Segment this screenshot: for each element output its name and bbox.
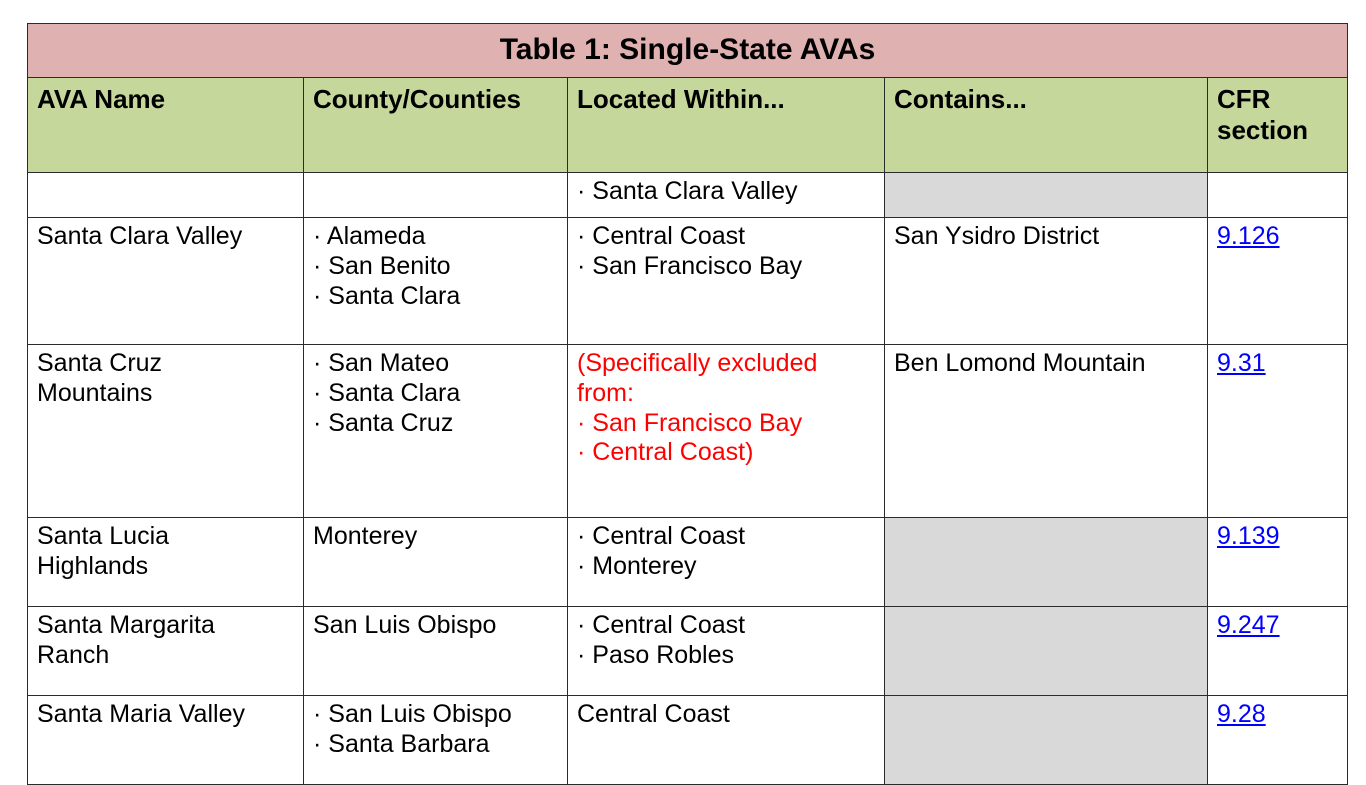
- cell-lines: Santa LuciaHighlands: [37, 522, 295, 582]
- cell-lines: San Ysidro District: [894, 222, 1199, 252]
- cell-lines: Ben Lomond Mountain: [894, 349, 1199, 379]
- cell-lines: Monterey: [313, 522, 559, 552]
- cell-located-within: (Specifically excludedfrom:· San Francis…: [568, 345, 885, 518]
- cell-located-within-line-1: (Specifically excluded: [577, 349, 876, 379]
- cell-contains-line-1: Ben Lomond Mountain: [894, 349, 1199, 379]
- cell-lines: · Central Coast· Paso Robles: [577, 611, 876, 671]
- cell-county-line-3: · Santa Cruz: [313, 409, 559, 439]
- cell-county: Monterey: [304, 518, 568, 607]
- cell-contains: Ben Lomond Mountain: [885, 345, 1208, 518]
- cell-located-within-line-2: · Paso Robles: [577, 641, 876, 671]
- table-title-row: Table 1: Single-State AVAs: [28, 24, 1348, 78]
- cell-located-within-line-1: Central Coast: [577, 700, 876, 730]
- cell-located-within: · Santa Clara Valley: [568, 173, 885, 218]
- table-title: Table 1: Single-State AVAs: [28, 24, 1348, 78]
- cell-contains: [885, 518, 1208, 607]
- cell-lines: · Santa Clara Valley: [577, 177, 876, 207]
- cell-located-within-line-1: · Central Coast: [577, 611, 876, 641]
- table-container: Table 1: Single-State AVAs AVA Name Coun…: [27, 23, 1347, 785]
- cell-county-line-2: · Santa Barbara: [313, 730, 559, 760]
- cfr-section-link[interactable]: 9.31: [1217, 349, 1266, 377]
- cell-ava-name-line-2: Mountains: [37, 379, 295, 409]
- cfr-section-link[interactable]: 9.126: [1217, 222, 1280, 250]
- cell-lines: Santa MargaritaRanch: [37, 611, 295, 671]
- cell-lines: San Luis Obispo: [313, 611, 559, 641]
- cell-cfr-section: 9.139: [1208, 518, 1348, 607]
- cell-cfr-section: 9.247: [1208, 607, 1348, 696]
- cell-contains: [885, 607, 1208, 696]
- cell-lines: · San Mateo· Santa Clara· Santa Cruz: [313, 349, 559, 438]
- cell-located-within-line-1: · Central Coast: [577, 522, 876, 552]
- cell-ava-name: Santa CruzMountains: [28, 345, 304, 518]
- table-row: Santa Clara Valley· Alameda· San Benito·…: [28, 218, 1348, 345]
- cell-located-within: · Central Coast· Paso Robles: [568, 607, 885, 696]
- cell-located-within-line-1: · Santa Clara Valley: [577, 177, 876, 207]
- cell-contains: [885, 173, 1208, 218]
- cell-lines: (Specifically excludedfrom:· San Francis…: [577, 349, 876, 468]
- cell-county-line-3: · Santa Clara: [313, 282, 559, 312]
- cell-county: · Alameda· San Benito· Santa Clara: [304, 218, 568, 345]
- cell-county-line-1: San Luis Obispo: [313, 611, 559, 641]
- cell-ava-name: Santa Maria Valley: [28, 696, 304, 785]
- cell-lines: Santa CruzMountains: [37, 349, 295, 409]
- column-header-located-within: Located Within...: [568, 78, 885, 173]
- cell-ava-name-line-2: Ranch: [37, 641, 295, 671]
- cell-located-within: · Central Coast· San Francisco Bay: [568, 218, 885, 345]
- column-header-contains: Contains...: [885, 78, 1208, 173]
- table-row: Santa LuciaHighlandsMonterey· Central Co…: [28, 518, 1348, 607]
- cell-located-within-line-1: · Central Coast: [577, 222, 876, 252]
- cfr-section-link[interactable]: 9.247: [1217, 611, 1280, 639]
- cell-cfr-section: 9.126: [1208, 218, 1348, 345]
- cell-ava-name: Santa LuciaHighlands: [28, 518, 304, 607]
- cell-lines: · Central Coast· San Francisco Bay: [577, 222, 876, 282]
- table-header-row: AVA Name County/Counties Located Within.…: [28, 78, 1348, 173]
- cell-ava-name: Santa Clara Valley: [28, 218, 304, 345]
- cell-county: San Luis Obispo: [304, 607, 568, 696]
- table-head: Table 1: Single-State AVAs AVA Name Coun…: [28, 24, 1348, 173]
- cell-lines: Central Coast: [577, 700, 876, 730]
- cell-cfr-section: [1208, 173, 1348, 218]
- cell-county-line-2: · Santa Clara: [313, 379, 559, 409]
- column-header-ava-name: AVA Name: [28, 78, 304, 173]
- cell-located-within-line-2: · San Francisco Bay: [577, 252, 876, 282]
- cell-located-within-line-4: · Central Coast): [577, 438, 876, 468]
- cell-lines: · Alameda· San Benito· Santa Clara: [313, 222, 559, 311]
- cell-ava-name-line-1: Santa Maria Valley: [37, 700, 295, 730]
- cell-ava-name-line-2: Highlands: [37, 552, 295, 582]
- cell-located-within: · Central Coast· Monterey: [568, 518, 885, 607]
- cell-county: · San Mateo· Santa Clara· Santa Cruz: [304, 345, 568, 518]
- cell-county-line-1: · San Mateo: [313, 349, 559, 379]
- cell-county: · San Luis Obispo· Santa Barbara: [304, 696, 568, 785]
- table-row: Santa MargaritaRanchSan Luis Obispo· Cen…: [28, 607, 1348, 696]
- cell-ava-name: [28, 173, 304, 218]
- cell-cfr-section: 9.28: [1208, 696, 1348, 785]
- cell-contains: [885, 696, 1208, 785]
- cell-county: [304, 173, 568, 218]
- cell-contains-line-1: San Ysidro District: [894, 222, 1199, 252]
- cell-lines: Santa Maria Valley: [37, 700, 295, 730]
- cell-located-within-line-2: · Monterey: [577, 552, 876, 582]
- cell-county-line-1: Monterey: [313, 522, 559, 552]
- cell-lines: · San Luis Obispo· Santa Barbara: [313, 700, 559, 760]
- table-row: Santa CruzMountains· San Mateo· Santa Cl…: [28, 345, 1348, 518]
- cfr-header-line-1: CFR: [1217, 84, 1339, 115]
- cfr-section-link[interactable]: 9.28: [1217, 700, 1266, 728]
- cell-ava-name-line-1: Santa Margarita: [37, 611, 295, 641]
- table-row: · Santa Clara Valley: [28, 173, 1348, 218]
- cell-county-line-1: · San Luis Obispo: [313, 700, 559, 730]
- cell-ava-name-line-1: Santa Cruz: [37, 349, 295, 379]
- cell-cfr-section: 9.31: [1208, 345, 1348, 518]
- cell-ava-name: Santa MargaritaRanch: [28, 607, 304, 696]
- table-row: Santa Maria Valley· San Luis Obispo· San…: [28, 696, 1348, 785]
- cell-county-line-1: · Alameda: [313, 222, 559, 252]
- cfr-header-line-2: section: [1217, 115, 1339, 146]
- cell-lines: · Central Coast· Monterey: [577, 522, 876, 582]
- cell-contains: San Ysidro District: [885, 218, 1208, 345]
- column-header-cfr-section: CFR section: [1208, 78, 1348, 173]
- cfr-section-link[interactable]: 9.139: [1217, 522, 1280, 550]
- single-state-avas-table: Table 1: Single-State AVAs AVA Name Coun…: [27, 23, 1348, 785]
- cell-county-line-2: · San Benito: [313, 252, 559, 282]
- table-body: · Santa Clara ValleySanta Clara Valley· …: [28, 173, 1348, 785]
- cell-ava-name-line-1: Santa Clara Valley: [37, 222, 295, 252]
- cell-located-within-line-2: from:: [577, 379, 876, 409]
- cell-ava-name-line-1: Santa Lucia: [37, 522, 295, 552]
- cell-lines: Santa Clara Valley: [37, 222, 295, 252]
- column-header-county: County/Counties: [304, 78, 568, 173]
- cell-located-within-line-3: · San Francisco Bay: [577, 409, 876, 439]
- cell-located-within: Central Coast: [568, 696, 885, 785]
